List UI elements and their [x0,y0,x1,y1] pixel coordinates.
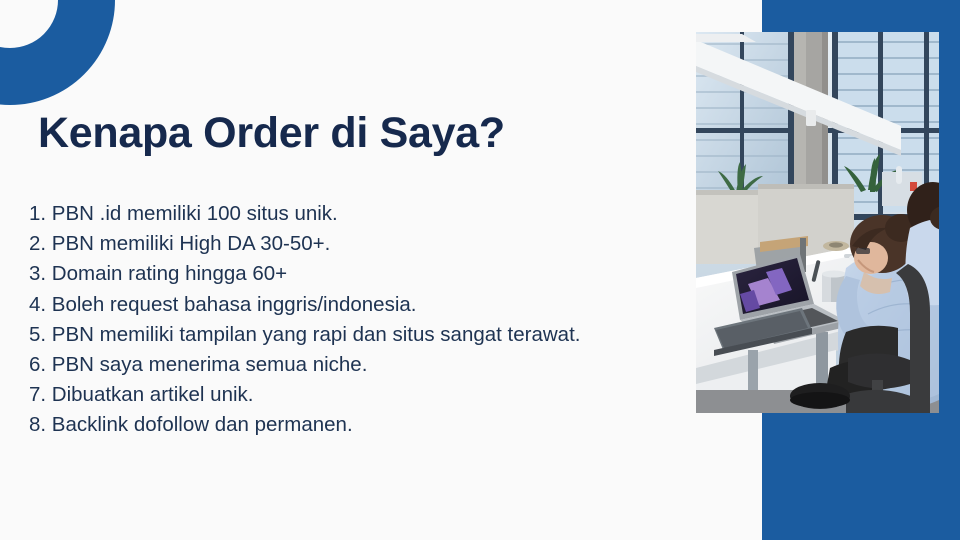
list-item: 6. PBN saya menerima semua niche. [29,350,729,380]
list-item: 7. Dibuatkan artikel unik. [29,380,729,410]
list-item: 4. Boleh request bahasa inggris/indonesi… [29,290,729,320]
blue-ring-shape [0,0,115,105]
office-coworkers-photo [696,32,939,413]
list-item: 3. Domain rating hingga 60+ [29,259,729,289]
list-item: 5. PBN memiliki tampilan yang rapi dan s… [29,320,729,350]
slide-canvas: Kenapa Order di Saya? 1. PBN .id memilik… [0,0,960,540]
benefits-list: 1. PBN .id memiliki 100 situs unik. 2. P… [29,199,729,441]
list-item: 8. Backlink dofollow dan permanen. [29,410,729,440]
page-title: Kenapa Order di Saya? [38,109,678,158]
list-item: 2. PBN memiliki High DA 30-50+. [29,229,729,259]
list-item: 1. PBN .id memiliki 100 situs unik. [29,199,729,229]
